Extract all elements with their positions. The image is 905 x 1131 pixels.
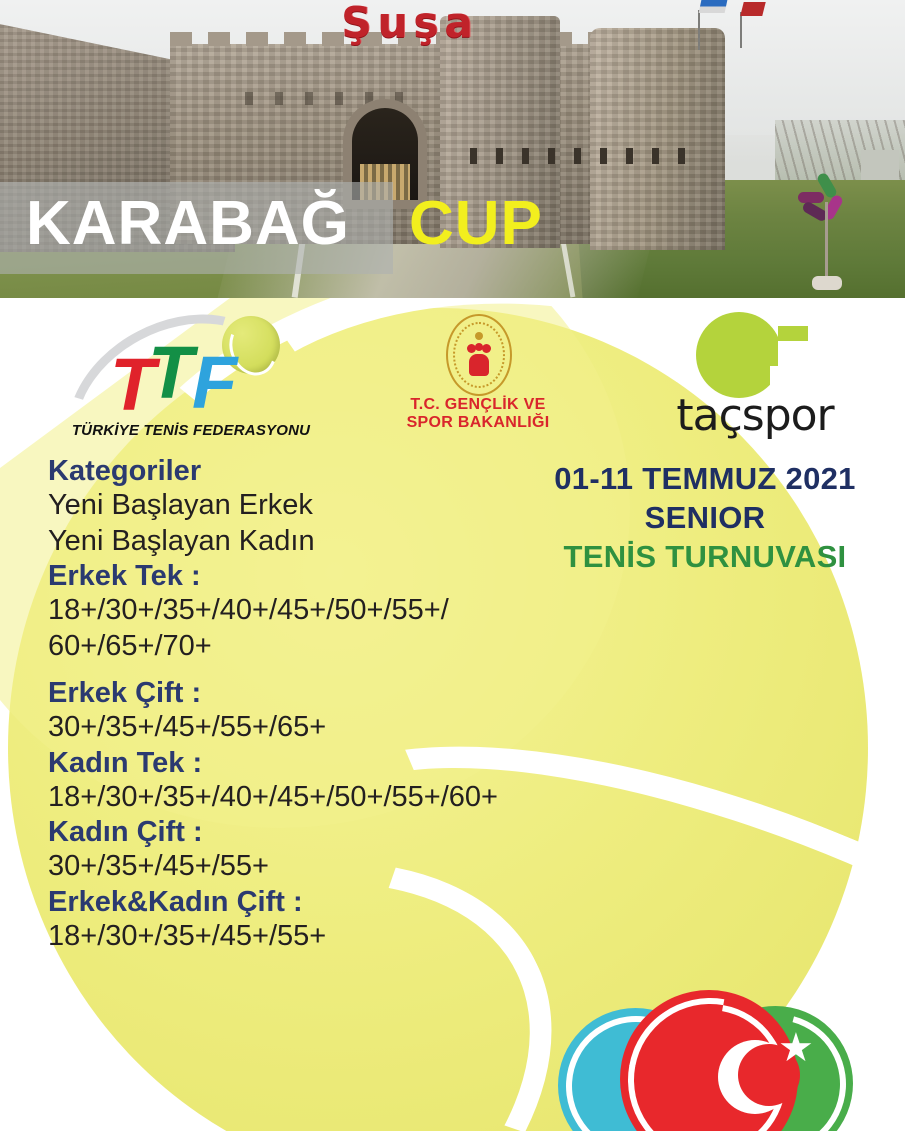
- event-info-block: 01-11 TEMMUZ 2021 SENIOR TENİS TURNUVASI: [520, 460, 890, 576]
- categories-block: Kategoriler Yeni Başlayan Erkek Yeni Baş…: [48, 454, 548, 954]
- susa-sign-text: Şuşa: [310, 2, 510, 44]
- category-group-values: 60+/65+/70+: [48, 629, 548, 664]
- logo-turkiye-tenis-federasyonu: T T F TÜRKİYE TENİS FEDERASYONU: [72, 316, 302, 444]
- logo-genclik-spor-bakanligi: T.C. GENÇLİK VE SPOR BAKANLIĞI: [368, 314, 588, 444]
- ministry-name-line1: T.C. GENÇLİK VE: [368, 396, 588, 414]
- event-level: SENIOR: [520, 499, 890, 538]
- category-group-values: 18+/30+/35+/40+/45+/50+/55+/: [48, 593, 548, 628]
- ttf-logo-name: TÜRKİYE TENİS FEDERASYONU: [66, 422, 316, 439]
- ttf-letter-3: F: [192, 346, 237, 420]
- category-group-label: Kadın Tek :: [48, 746, 548, 780]
- category-group-label: Erkek Tek :: [48, 559, 548, 593]
- category-group-label: Kadın Çift :: [48, 815, 548, 849]
- sponsor-logo-row: T T F TÜRKİYE TENİS FEDERASYONU T.C.: [0, 308, 905, 443]
- categories-heading: Kategoriler: [48, 454, 548, 488]
- fortress-loopholes-upper: [245, 92, 415, 105]
- pinwheel-base: [812, 276, 842, 290]
- flagpole-right: [740, 12, 742, 48]
- flag-turkey-icon: [740, 2, 765, 16]
- flag-azerbaijan-icon: [699, 0, 728, 13]
- flagpole-left: [698, 10, 700, 50]
- category-plain-item: Yeni Başlayan Erkek: [48, 488, 548, 523]
- logo-tacspor: taçspor: [640, 308, 870, 446]
- event-dates: 01-11 TEMMUZ 2021: [520, 460, 890, 499]
- pinwheel-pole: [825, 202, 828, 280]
- ministry-figures-icon: [467, 332, 491, 378]
- tennis-balls-graphic: ★: [548, 988, 878, 1131]
- tacspor-circle-icon: [696, 312, 782, 398]
- category-group-values: 30+/35+/45+/55+/65+: [48, 710, 548, 745]
- ministry-name-line2: SPOR BAKANLIĞI: [368, 414, 588, 432]
- ministry-seal-icon: [446, 314, 512, 396]
- fortress-tower-right: [590, 28, 725, 250]
- event-type: TENİS TURNUVASI: [520, 538, 890, 577]
- ministry-logo-name: T.C. GENÇLİK VE SPOR BAKANLIĞI: [368, 396, 588, 433]
- poster-title-main: KARABAĞ: [26, 193, 350, 255]
- poster-body: T T F TÜRKİYE TENİS FEDERASYONU T.C.: [0, 298, 905, 1131]
- poster-title-accent: CUP: [409, 193, 543, 255]
- category-group-values: 18+/30+/35+/40+/45+/50+/55+/60+: [48, 780, 548, 815]
- tacspor-t-notch: [778, 326, 808, 341]
- poster-root: Şuşa KARABAĞ CUP T T F TÜRKİYE TENİS FED…: [0, 0, 905, 1131]
- category-group-values: 30+/35+/45+/55+: [48, 849, 548, 884]
- hero-photo: Şuşa KARABAĞ CUP: [0, 0, 905, 298]
- category-group-label: Erkek Çift :: [48, 676, 548, 710]
- category-plain-item: Yeni Başlayan Kadın: [48, 524, 548, 559]
- category-group-values: 18+/30+/35+/45+/55+: [48, 919, 548, 954]
- tacspor-logo-name: taçspor: [640, 390, 870, 441]
- fortress-loopholes-lower: [470, 148, 700, 164]
- category-group-label: Erkek&Kadın Çift :: [48, 885, 548, 919]
- ttf-letter-2: T: [148, 336, 193, 410]
- pinwheel-sculpture: [780, 172, 870, 292]
